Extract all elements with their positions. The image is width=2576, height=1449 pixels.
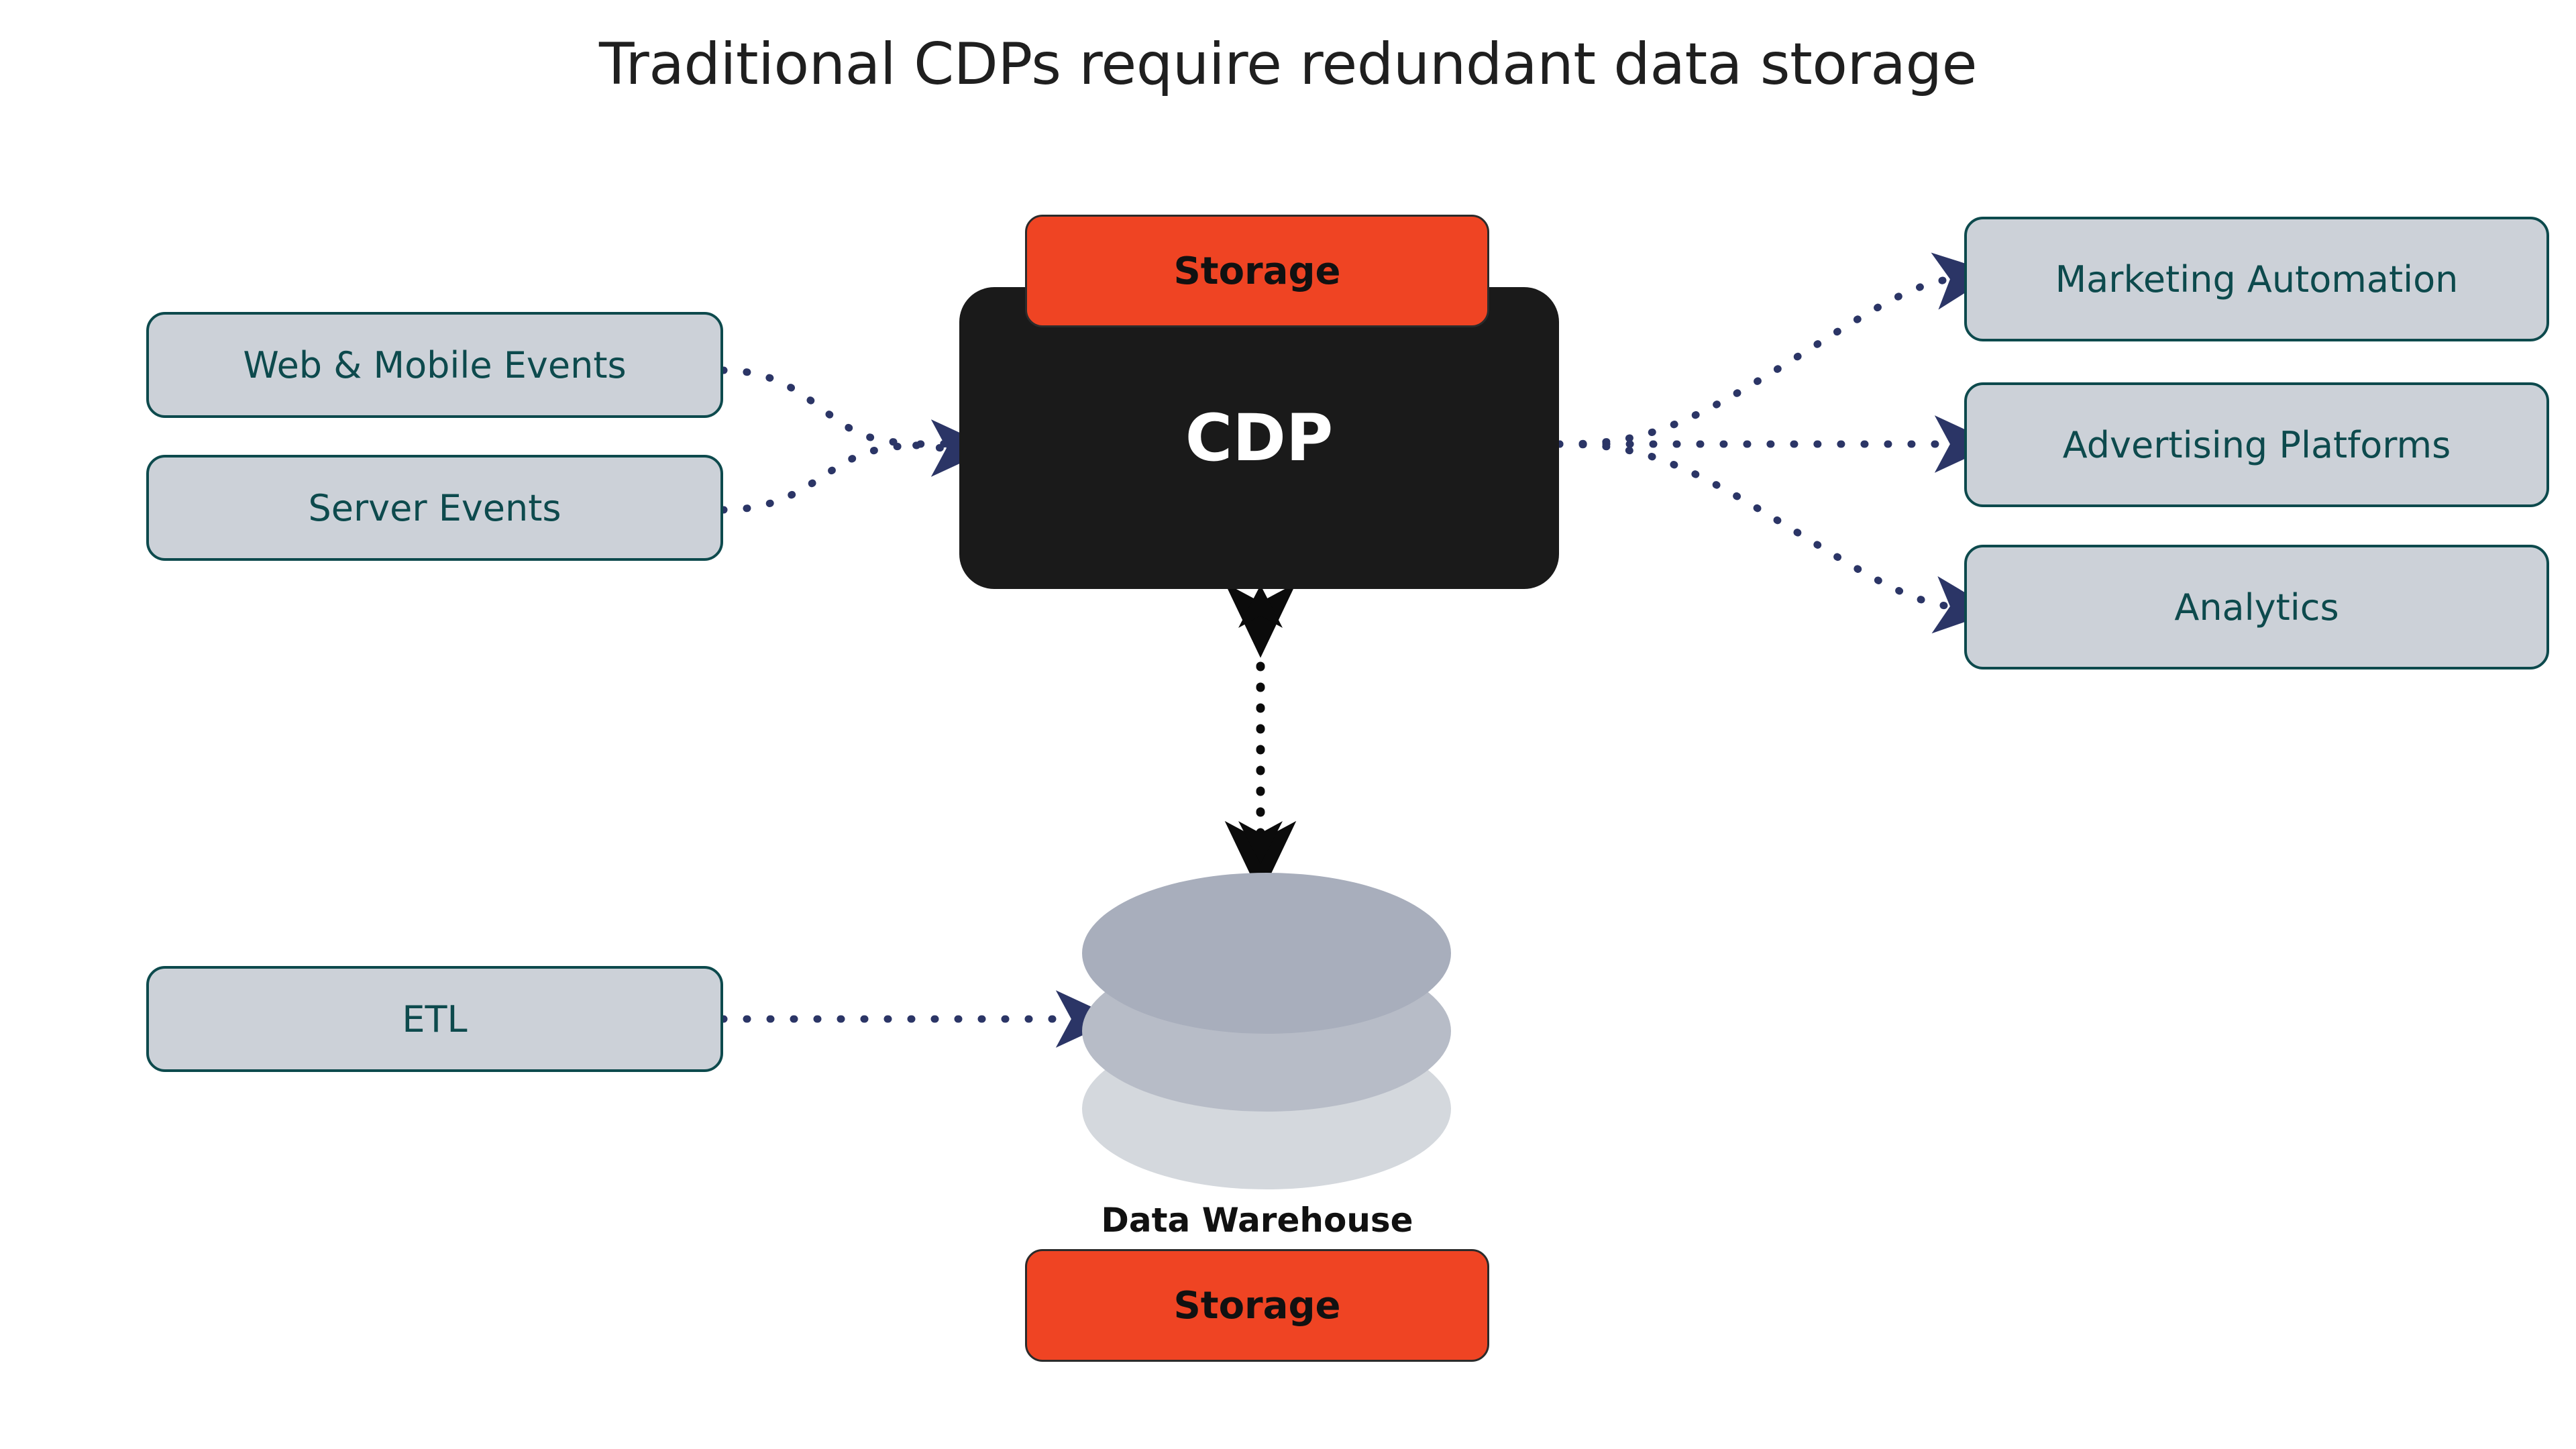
destination-box-analytics[interactable]: Analytics: [1964, 545, 2549, 669]
source-box-web-mobile-events[interactable]: Web & Mobile Events: [146, 312, 723, 418]
cdp-storage-badge-label: Storage: [1173, 250, 1340, 293]
etl-box-label: ETL: [402, 998, 467, 1040]
etl-box[interactable]: ETL: [146, 966, 723, 1072]
db-layer-top: [1082, 873, 1451, 1034]
cdp-box-label: CDP: [1185, 400, 1334, 476]
source-box-server-events-label: Server Events: [308, 487, 561, 529]
diagram-canvas: Traditional CDPs require redundant data …: [0, 0, 2576, 1449]
destination-box-advertising-platforms[interactable]: Advertising Platforms: [1964, 382, 2549, 507]
source-box-server-events[interactable]: Server Events: [146, 455, 723, 561]
arrowhead-up-to-cdp: [1238, 585, 1283, 628]
cdp-storage-badge[interactable]: Storage: [1025, 215, 1489, 327]
source-box-web-mobile-events-label: Web & Mobile Events: [243, 344, 626, 386]
warehouse-storage-badge-label: Storage: [1173, 1284, 1340, 1328]
destination-box-marketing-automation[interactable]: Marketing Automation: [1964, 217, 2549, 341]
destination-box-analytics-label: Analytics: [2174, 586, 2339, 629]
data-warehouse-label: Data Warehouse: [1025, 1201, 1489, 1240]
cdp-box[interactable]: CDP: [959, 287, 1559, 589]
warehouse-storage-badge[interactable]: Storage: [1025, 1249, 1489, 1362]
destination-box-advertising-platforms-label: Advertising Platforms: [2063, 424, 2451, 466]
destination-box-marketing-automation-label: Marketing Automation: [2055, 258, 2459, 301]
data-warehouse-cylinder[interactable]: [1059, 855, 1474, 1191]
